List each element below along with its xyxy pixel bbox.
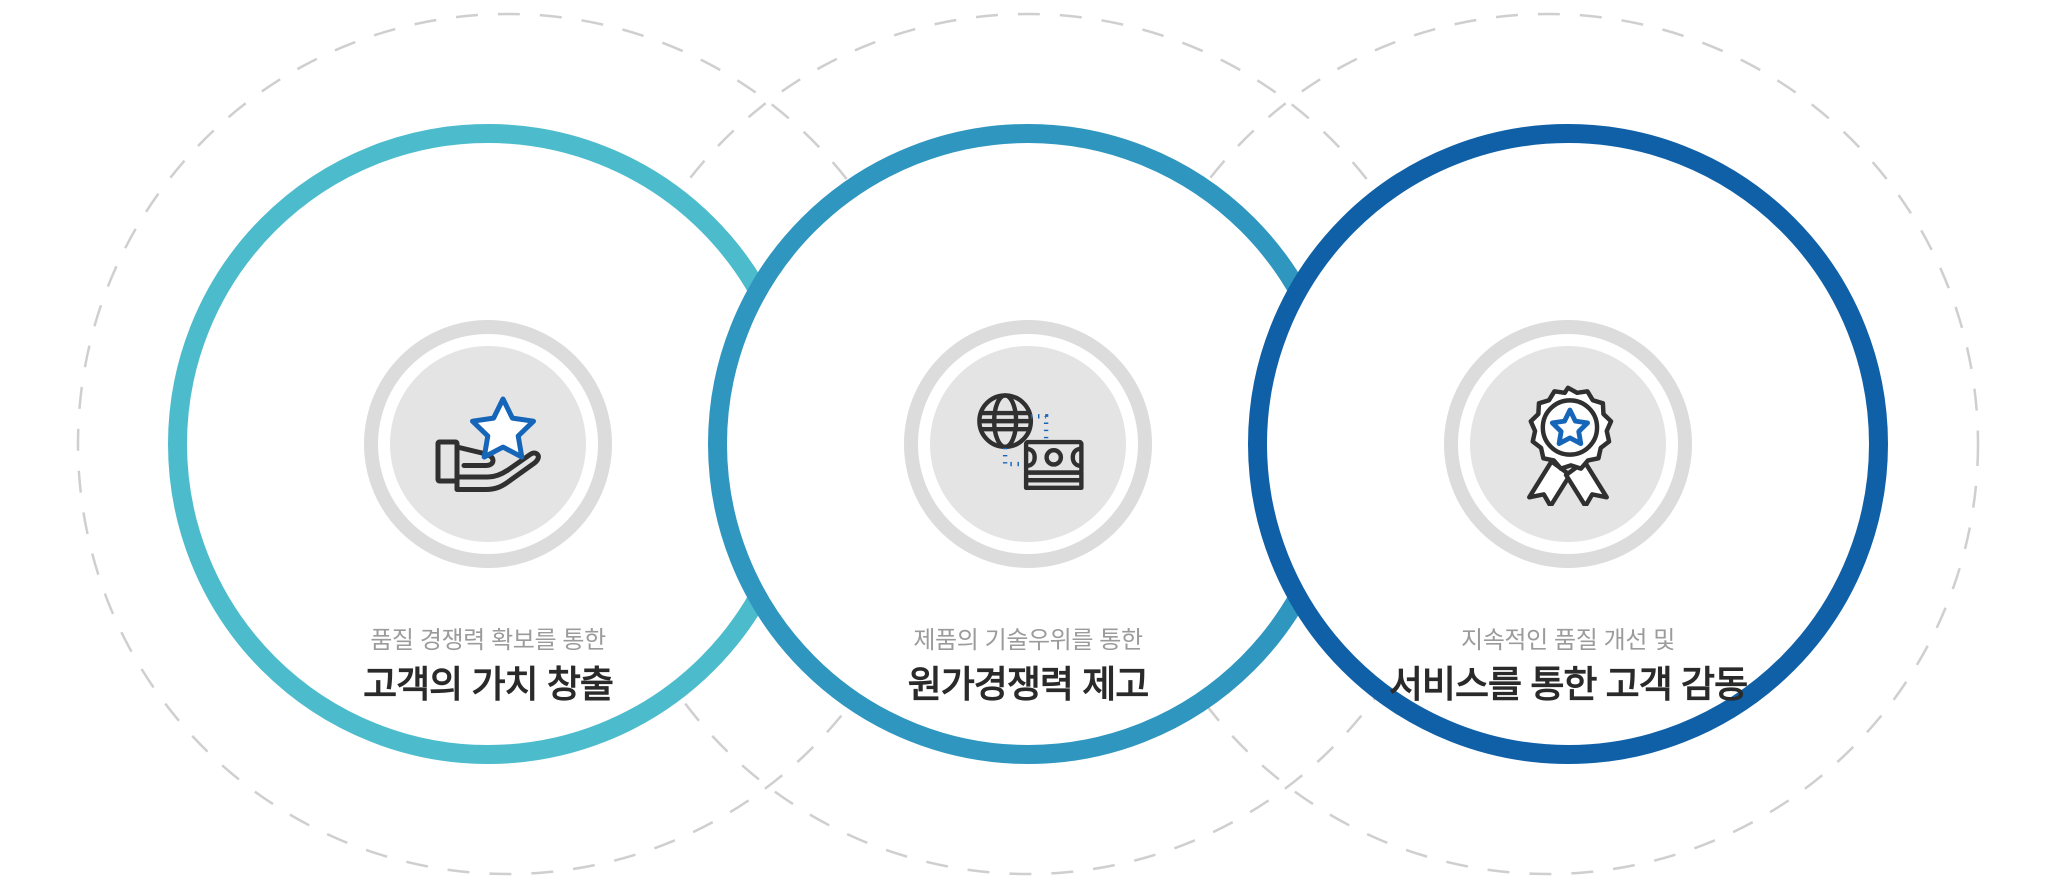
policy-card-award-ribbon[interactable]: 지속적인 품질 개선 및 서비스를 통한 고객 감동 bbox=[1248, 124, 1888, 764]
award-ribbon-star-icon bbox=[1486, 362, 1650, 526]
banknote-glyph bbox=[1026, 442, 1081, 488]
globe-money-icon bbox=[946, 362, 1110, 526]
card-text-3: 지속적인 품질 개선 및 서비스를 통한 고객 감동 bbox=[1248, 624, 1888, 710]
card-subtitle-3: 지속적인 품질 개선 및 bbox=[1248, 624, 1888, 658]
globe-glyph bbox=[979, 395, 1030, 446]
diagram-canvas: 품질 경쟁력 확보를 통한 고객의 가치 창출 bbox=[0, 0, 2056, 888]
hand-holding-star-icon bbox=[406, 362, 570, 526]
card-title-3: 서비스를 통한 고객 감동 bbox=[1248, 660, 1888, 710]
star-outline bbox=[473, 399, 534, 457]
